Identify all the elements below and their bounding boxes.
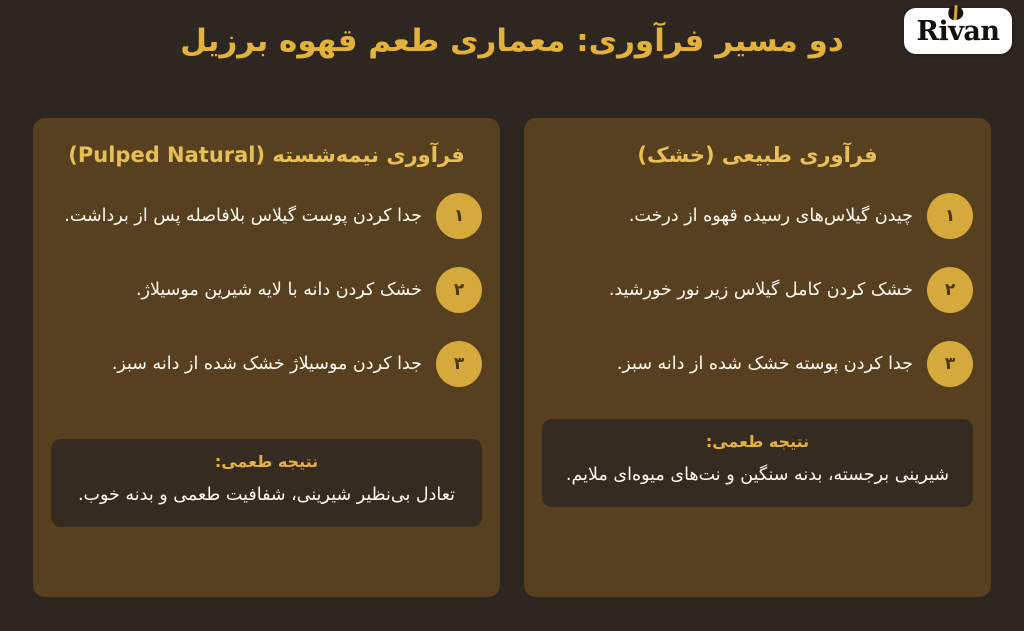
brand-logo: Rivan [904,8,1012,54]
step-number-badge: ۳ [927,341,973,387]
step-number-badge: ۱ [927,193,973,239]
page-title: دو مسیر فرآوری: معماری طعم قهوه برزیل [0,22,1024,61]
result-label: نتیجه طعمی: [558,431,957,453]
step-number-badge: ۲ [927,267,973,313]
header: دو مسیر فرآوری: معماری طعم قهوه برزیل Ri… [0,0,1024,100]
step-text: خشک کردن کامل گیلاس زیر نور خورشید. [542,275,913,306]
step-number-badge: ۳ [436,341,482,387]
result-text: تعادل بی‌نظیر شیرینی، شفافیت طعمی و بدنه… [67,480,466,511]
step-item: ۳ جدا کردن پوسته خشک شده از دانه سبز. [542,341,973,387]
step-item: ۱ جدا کردن پوست گیلاس بلافاصله پس از برد… [51,193,482,239]
step-number-badge: ۲ [436,267,482,313]
result-box-pulped-natural: نتیجه طعمی: تعادل بی‌نظیر شیرینی، شفافیت… [51,439,482,527]
step-text: جدا کردن موسیلاژ خشک شده از دانه سبز. [51,349,422,380]
step-number-badge: ۱ [436,193,482,239]
infographic-page: دو مسیر فرآوری: معماری طعم قهوه برزیل Ri… [0,0,1024,631]
result-text: شیرینی برجسته، بدنه سنگین و نت‌های میوه‌… [558,460,957,491]
step-item: ۲ خشک کردن کامل گیلاس زیر نور خورشید. [542,267,973,313]
step-text: خشک کردن دانه با لایه شیرین موسیلاژ. [51,275,422,306]
step-text: جدا کردن پوست گیلاس بلافاصله پس از برداش… [51,201,422,232]
card-natural-dry: فرآوری طبیعی (خشک) ۱ چیدن گیلاس‌های رسید… [524,118,991,597]
logo-text: Rivan [917,18,1000,45]
steps-list-natural-dry: ۱ چیدن گیلاس‌های رسیده قهوه از درخت. ۲ خ… [542,193,973,415]
step-item: ۱ چیدن گیلاس‌های رسیده قهوه از درخت. [542,193,973,239]
step-item: ۳ جدا کردن موسیلاژ خشک شده از دانه سبز. [51,341,482,387]
result-label: نتیجه طعمی: [67,451,466,473]
card-title-natural-dry: فرآوری طبیعی (خشک) [524,142,991,169]
result-box-natural-dry: نتیجه طعمی: شیرینی برجسته، بدنه سنگین و … [542,419,973,507]
card-pulped-natural: فرآوری نیمه‌شسته (Pulped Natural) ۱ جدا … [33,118,500,597]
steps-list-pulped-natural: ۱ جدا کردن پوست گیلاس بلافاصله پس از برد… [51,193,482,415]
card-title-pulped-natural: فرآوری نیمه‌شسته (Pulped Natural) [33,142,500,169]
step-text: چیدن گیلاس‌های رسیده قهوه از درخت. [542,201,913,232]
step-text: جدا کردن پوسته خشک شده از دانه سبز. [542,349,913,380]
logo-inner: Rivan [917,18,1000,45]
step-item: ۲ خشک کردن دانه با لایه شیرین موسیلاژ. [51,267,482,313]
